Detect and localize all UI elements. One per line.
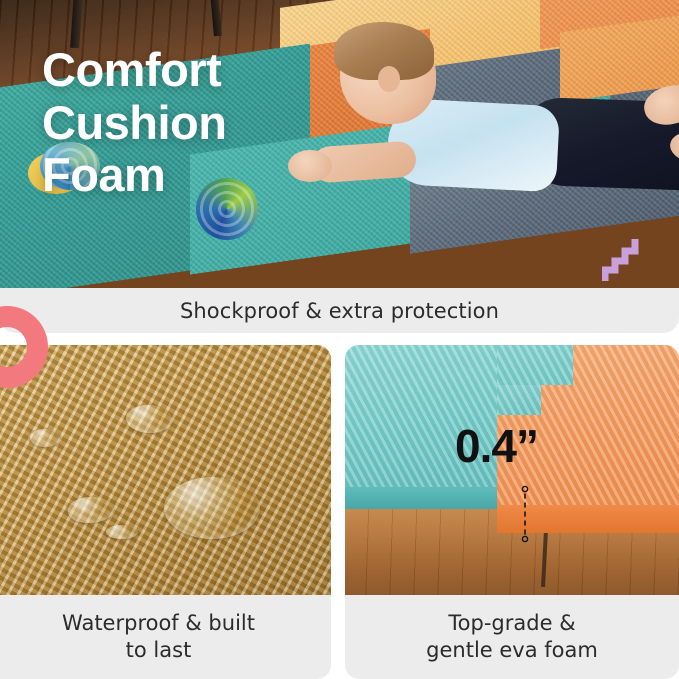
hero-title-line-3: Foam bbox=[42, 149, 226, 202]
water-droplet bbox=[106, 525, 138, 539]
feature-card-waterproof: Waterproof & built to last bbox=[0, 345, 331, 679]
eva-foam-caption: Top-grade & gentle eva foam bbox=[345, 595, 679, 679]
hero-title: Comfort Cushion Foam bbox=[42, 44, 226, 202]
tile-interlock-notch bbox=[497, 345, 573, 385]
eva-foam-photo: 0.4” bbox=[345, 345, 679, 595]
product-infographic: Comfort Cushion Foam Shockproof & extra … bbox=[0, 0, 679, 679]
baby-photo-subject bbox=[330, 24, 679, 214]
waterproof-caption-line-1: Waterproof & built bbox=[62, 610, 255, 637]
tile-interlock-notch-2 bbox=[497, 385, 541, 415]
eva-foam-caption-line-1: Top-grade & bbox=[448, 610, 575, 637]
hero-title-line-2: Cushion bbox=[42, 97, 226, 150]
purple-zigzag-icon bbox=[602, 239, 642, 281]
water-droplet bbox=[126, 405, 172, 433]
hero-title-line-1: Comfort bbox=[42, 44, 226, 97]
waterproof-photo bbox=[0, 345, 331, 595]
waterproof-caption-line-2: to last bbox=[126, 637, 192, 664]
hero-caption-bar: Shockproof & extra protection bbox=[0, 288, 679, 333]
baby-hand bbox=[288, 150, 332, 182]
hero-photo: Comfort Cushion Foam bbox=[0, 0, 679, 288]
water-droplet bbox=[164, 477, 260, 539]
waterproof-caption: Waterproof & built to last bbox=[0, 595, 331, 679]
hero-image-card: Comfort Cushion Foam bbox=[0, 0, 679, 288]
foam-thickness-scene: 0.4” bbox=[345, 345, 679, 595]
baby-ear bbox=[378, 66, 400, 92]
dimension-line-icon bbox=[517, 485, 533, 543]
thickness-callout: 0.4” bbox=[455, 419, 538, 473]
water-droplet bbox=[30, 429, 60, 447]
feature-card-eva-foam: 0.4” Top-grade & gentle eva foam bbox=[345, 345, 679, 679]
hero-caption-text: Shockproof & extra protection bbox=[180, 299, 499, 323]
teal-foam-tile-edge bbox=[345, 487, 515, 509]
eva-foam-caption-line-2: gentle eva foam bbox=[426, 637, 598, 664]
foam-texture-surface bbox=[0, 345, 331, 595]
